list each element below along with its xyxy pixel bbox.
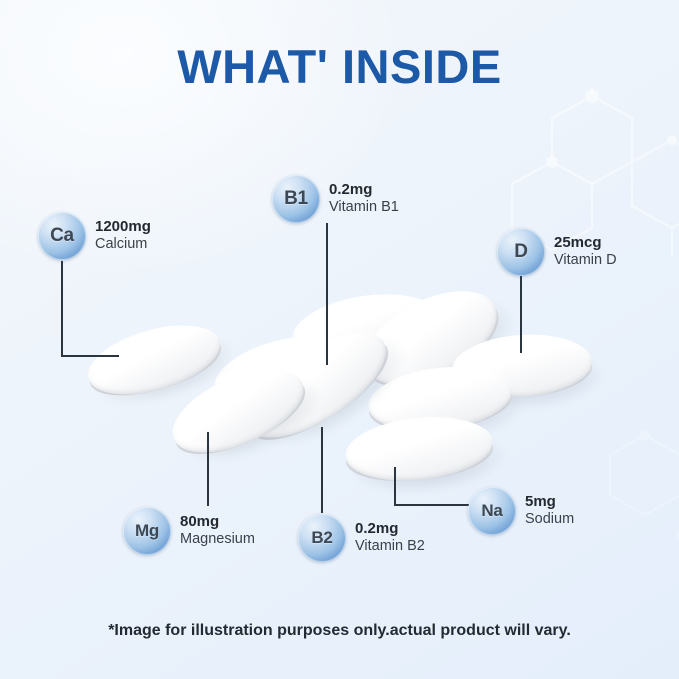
callout-text-sodium: 5mg Sodium	[525, 493, 574, 529]
callout-vitamin-b2[interactable]: B2 0.2mg Vitamin B2	[298, 514, 425, 562]
nutrient-vitamin-b1: Vitamin B1	[329, 199, 399, 217]
callout-text-vitamin-d: 25mcg Vitamin D	[554, 234, 617, 270]
amount-calcium: 1200mg	[95, 218, 151, 236]
badge-vitamin-b1: B1	[272, 175, 320, 223]
pill-tablet	[450, 330, 594, 402]
pill-tablet	[161, 352, 316, 469]
pill-tablet	[350, 272, 511, 404]
molecule-watermark-secondary-icon	[560, 430, 679, 600]
supplement-infographic: WHAT' INSIDE	[0, 0, 679, 679]
nutrient-calcium: Calcium	[95, 236, 151, 254]
nutrient-vitamin-d: Vitamin D	[554, 252, 617, 270]
page-title: WHAT' INSIDE	[0, 39, 679, 94]
callout-vitamin-d[interactable]: D 25mcg Vitamin D	[497, 228, 617, 276]
disclaimer-text: *Image for illustration purposes only.ac…	[0, 622, 679, 640]
amount-vitamin-b2: 0.2mg	[355, 520, 425, 538]
amount-vitamin-b1: 0.2mg	[329, 181, 399, 199]
nutrient-vitamin-b2: Vitamin B2	[355, 538, 425, 556]
amount-vitamin-d: 25mcg	[554, 234, 617, 252]
amount-magnesium: 80mg	[180, 513, 255, 531]
pill-tablet	[342, 410, 496, 487]
nutrient-magnesium: Magnesium	[180, 531, 255, 549]
callout-text-vitamin-b1: 0.2mg Vitamin B1	[329, 181, 399, 217]
pill-cluster	[0, 0, 679, 679]
pill-tablet	[80, 312, 227, 407]
leader-line-sodium	[395, 468, 468, 505]
callout-text-vitamin-b2: 0.2mg Vitamin B2	[355, 520, 425, 556]
pill-tablet	[207, 324, 361, 422]
nutrient-sodium: Sodium	[525, 511, 574, 529]
callout-text-magnesium: 80mg Magnesium	[180, 513, 255, 549]
badge-vitamin-d: D	[497, 228, 545, 276]
pill-tablet	[230, 312, 402, 458]
callout-calcium[interactable]: Ca 1200mg Calcium	[38, 212, 151, 260]
callout-text-calcium: 1200mg Calcium	[95, 218, 151, 254]
leader-line-calcium	[62, 262, 118, 356]
badge-magnesium: Mg	[123, 507, 171, 555]
leader-lines	[0, 0, 679, 679]
badge-vitamin-b2: B2	[298, 514, 346, 562]
badge-calcium: Ca	[38, 212, 86, 260]
pill-tablet	[365, 359, 515, 438]
pill-tablet	[288, 285, 444, 371]
amount-sodium: 5mg	[525, 493, 574, 511]
callout-magnesium[interactable]: Mg 80mg Magnesium	[123, 507, 255, 555]
badge-sodium: Na	[468, 487, 516, 535]
callout-sodium[interactable]: Na 5mg Sodium	[468, 487, 574, 535]
callout-vitamin-b1[interactable]: B1 0.2mg Vitamin B1	[272, 175, 399, 223]
